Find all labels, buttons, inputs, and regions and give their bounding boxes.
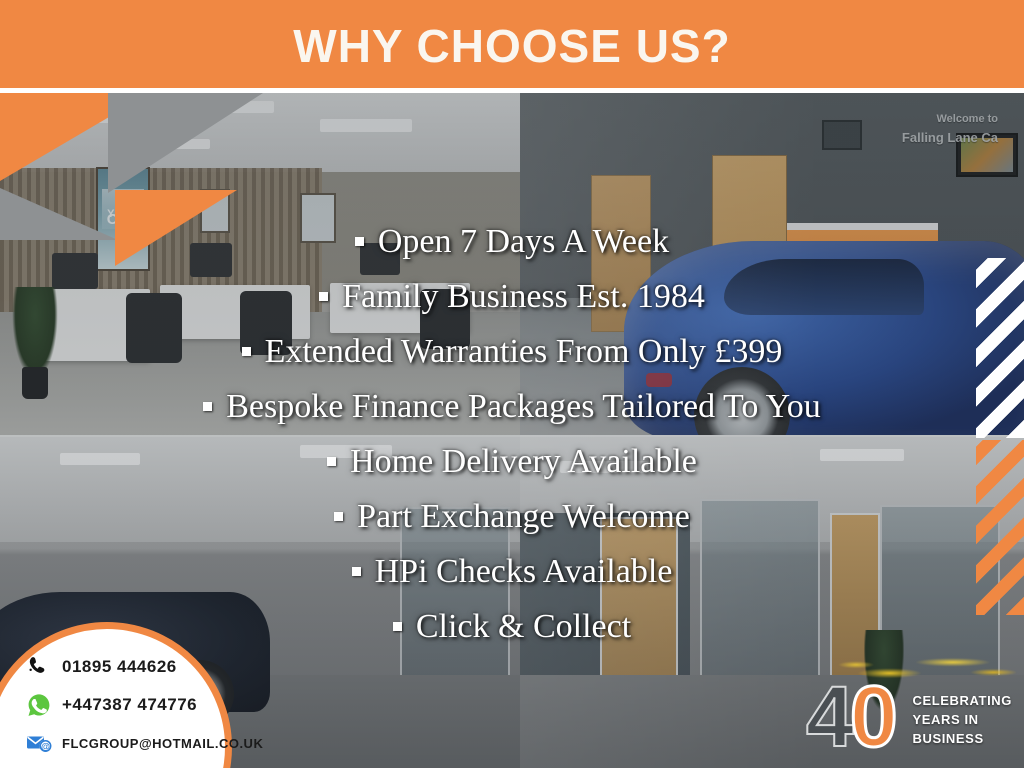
list-item: Extended Warranties From Only £399: [0, 324, 1024, 379]
square-bullet-icon: [327, 457, 336, 466]
corner-triangle-grey-top: [108, 93, 263, 193]
contact-whatsapp-row[interactable]: +447387 474776: [26, 692, 263, 718]
anniversary-caption: CELEBRATING YEARS IN BUSINESS: [912, 691, 1012, 748]
badge-digit-four: 4: [806, 669, 850, 765]
list-item-label: Part Exchange Welcome: [357, 498, 690, 535]
square-bullet-icon: [203, 402, 212, 411]
svg-text:@: @: [41, 741, 50, 751]
square-bullet-icon: [355, 237, 364, 246]
list-item-label: Click & Collect: [416, 608, 631, 645]
square-bullet-icon: [319, 292, 328, 301]
square-bullet-icon: [334, 512, 343, 521]
email-at-icon: @: [26, 730, 52, 756]
list-item-label: Home Delivery Available: [350, 443, 697, 480]
badge-digit-zero: 0: [850, 669, 894, 765]
benefits-list: Open 7 Days A Week Family Business Est. …: [0, 214, 1024, 654]
square-bullet-icon: [393, 622, 402, 631]
list-item-label: HPi Checks Available: [375, 553, 673, 590]
list-item-label: Extended Warranties From Only £399: [265, 333, 783, 370]
anniversary-badge: 40 CELEBRATING YEARS IN BUSINESS: [802, 646, 1016, 758]
badge-line-1: CELEBRATING: [912, 691, 1012, 710]
whatsapp-icon: [26, 692, 52, 718]
list-item: Bespoke Finance Packages Tailored To You: [0, 379, 1024, 434]
square-bullet-icon: [352, 567, 361, 576]
square-bullet-icon: [242, 347, 251, 356]
contact-details: 01895 444626 +447387 474776 @ FLCGROUP@H…: [26, 654, 263, 756]
list-item-label: Bespoke Finance Packages Tailored To You: [226, 388, 821, 425]
page-title: WHY CHOOSE US?: [0, 0, 1024, 88]
email-address: FLCGROUP@HOTMAIL.CO.UK: [62, 736, 263, 751]
whatsapp-number: +447387 474776: [62, 695, 197, 715]
anniversary-number: 40: [806, 674, 894, 760]
list-item: Part Exchange Welcome: [0, 489, 1024, 544]
phone-handset-icon: [26, 654, 52, 680]
list-item: Home Delivery Available: [0, 434, 1024, 489]
badge-line-3: BUSINESS: [912, 729, 1012, 748]
phone-number: 01895 444626: [62, 657, 177, 677]
list-item: HPi Checks Available: [0, 544, 1024, 599]
header-white-gap: [0, 88, 1024, 93]
list-item: Open 7 Days A Week: [0, 214, 1024, 269]
list-item-label: Open 7 Days A Week: [378, 223, 669, 260]
contact-phone-row[interactable]: 01895 444626: [26, 654, 263, 680]
list-item-label: Family Business Est. 1984: [342, 278, 705, 315]
contact-email-row[interactable]: @ FLCGROUP@HOTMAIL.CO.UK: [26, 730, 263, 756]
badge-line-2: YEARS IN: [912, 710, 1012, 729]
list-item: Family Business Est. 1984: [0, 269, 1024, 324]
poster-root: OF YOUR CAR: [0, 0, 1024, 768]
